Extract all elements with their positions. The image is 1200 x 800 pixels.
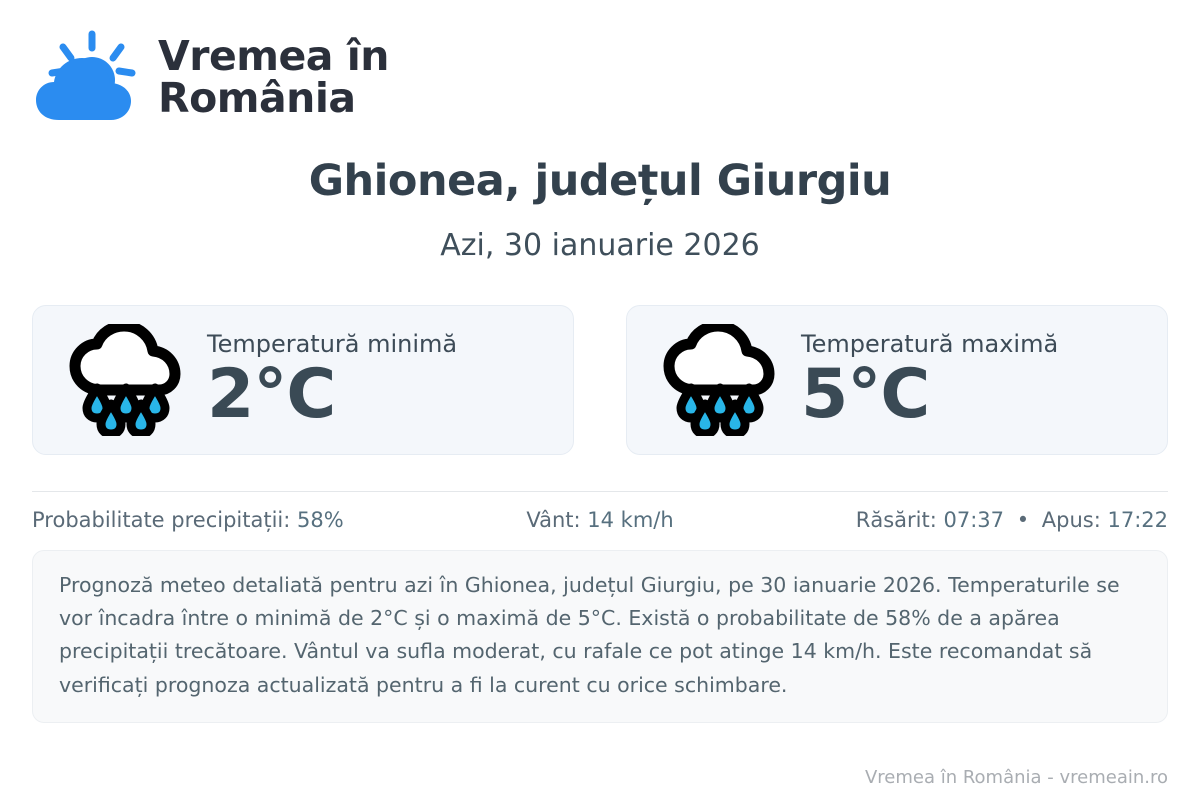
precipitation-label: Probabilitate precipitații:	[32, 508, 290, 532]
weather-page: Vremea în România Ghionea, județul Giurg…	[0, 0, 1200, 800]
sunrise-label: Răsărit:	[856, 508, 937, 532]
max-temperature-body: Temperatură maximă 5°C	[801, 330, 1058, 431]
sunrise-value: 07:37	[943, 508, 1004, 532]
wind-stat: Vânt: 14 km/h	[411, 508, 790, 532]
wind-value: 14 km/h	[587, 508, 673, 532]
sunset-value: 17:22	[1107, 508, 1168, 532]
max-temperature-value: 5°C	[801, 360, 929, 431]
sun-times-stat: Răsărit: 07:37 • Apus: 17:22	[789, 508, 1168, 532]
wind-label: Vânt:	[526, 508, 580, 532]
forecast-description: Prognoză meteo detaliată pentru azi în G…	[32, 550, 1168, 723]
max-temperature-card: Temperatură maximă 5°C	[626, 305, 1168, 455]
min-temperature-label: Temperatură minimă	[207, 330, 457, 358]
footer-credit: Vremea în România - vremeain.ro	[865, 767, 1168, 788]
weather-stats: Probabilitate precipitații: 58% Vânt: 14…	[32, 508, 1168, 532]
stats-divider	[32, 491, 1168, 492]
min-temperature-body: Temperatură minimă 2°C	[207, 330, 457, 431]
rain-cloud-icon	[661, 324, 779, 436]
temperature-cards: Temperatură minimă 2°C Temperatură maxim…	[32, 305, 1168, 455]
sun-behind-cloud-icon	[32, 28, 140, 128]
page-subtitle: Azi, 30 ianuarie 2026	[32, 228, 1168, 263]
site-brand[interactable]: Vremea în România	[32, 0, 1168, 108]
precipitation-stat: Probabilitate precipitații: 58%	[32, 508, 411, 532]
page-title: Ghionea, județul Giurgiu	[32, 156, 1168, 206]
min-temperature-value: 2°C	[207, 360, 335, 431]
sun-times-separator: •	[1011, 508, 1035, 532]
rain-cloud-icon	[67, 324, 185, 436]
precipitation-value: 58%	[297, 508, 344, 532]
brand-name: Vremea în România	[158, 36, 389, 120]
sunset-label: Apus:	[1042, 508, 1101, 532]
min-temperature-card: Temperatură minimă 2°C	[32, 305, 574, 455]
max-temperature-label: Temperatură maximă	[801, 330, 1058, 358]
